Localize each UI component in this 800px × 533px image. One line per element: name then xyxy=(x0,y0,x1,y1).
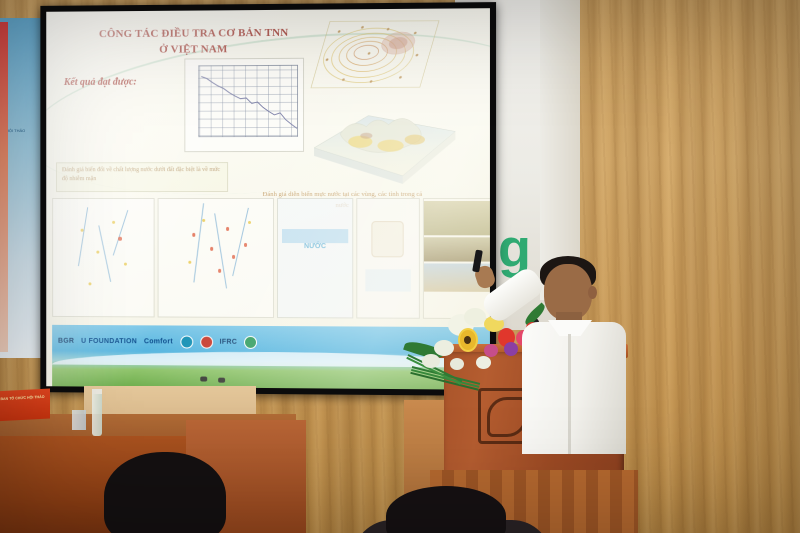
unilever-foundation-logo: U FOUNDATION xyxy=(81,337,137,344)
photo-banner-word: NƯỚC xyxy=(278,243,352,250)
bgr-logo: BGR xyxy=(58,337,74,344)
speaker-white-shirt xyxy=(522,322,626,454)
slide-title-line1: CÔNG TÁC ĐIỀU TRA CƠ BẢN TNN xyxy=(80,26,308,43)
presentation-room-photo: ng HỘI THẢO CÔNG TÁC ĐIỀU TRA CƠ BẢN TNN… xyxy=(0,0,800,533)
map-panel-north xyxy=(52,198,154,317)
slide-title-line2: Ở VIỆT NAM xyxy=(80,42,308,59)
audience-head-left xyxy=(104,452,226,533)
contour-map-svg xyxy=(309,17,450,98)
left-banner-red-edge xyxy=(0,22,8,352)
speaker-ear xyxy=(588,286,597,299)
nameplate: BAN TỔ CHỨC HỘI THẢO xyxy=(0,389,50,422)
chart-contour-map xyxy=(309,17,450,98)
water-bottle xyxy=(92,392,102,436)
map-panel-delta xyxy=(157,198,274,318)
ifrc-circle-icon xyxy=(200,335,213,348)
line-chart-plot-area xyxy=(198,65,298,137)
partner-circle-logo xyxy=(180,335,193,348)
comfort-logo: Comfort xyxy=(144,338,173,345)
cow-illustration xyxy=(200,377,207,382)
slide-title: CÔNG TÁC ĐIỀU TRA CƠ BẢN TNN Ở VIỆT NAM xyxy=(80,26,308,59)
speaker-figure xyxy=(520,252,630,452)
slide-note-water-quality-text: Đánh giá biến đổi về chất lượng nước dướ… xyxy=(62,166,224,185)
cow-illustration xyxy=(218,378,225,383)
slide-subtitle: Kết quả đạt được: xyxy=(64,77,137,88)
surface-3d-svg xyxy=(306,95,459,184)
nameplate-line1: BAN TỔ CHỨC HỘI THẢO xyxy=(0,394,48,403)
green-partner-icon xyxy=(244,335,257,348)
speaker-shirt-placket xyxy=(568,334,571,454)
chart-surface-3d-plot xyxy=(306,95,459,184)
line-chart-svg xyxy=(199,66,299,138)
photo-panel-banner: NƯỚC xyxy=(277,198,353,318)
drinking-glass xyxy=(72,410,86,430)
slide-note-water-quality: Đánh giá biến đổi về chất lượng nước dướ… xyxy=(56,162,228,192)
water-bottle-cap xyxy=(92,389,102,394)
chart-groundwater-level-trend xyxy=(184,58,304,152)
ifrc-logo: IFRC xyxy=(220,338,237,345)
